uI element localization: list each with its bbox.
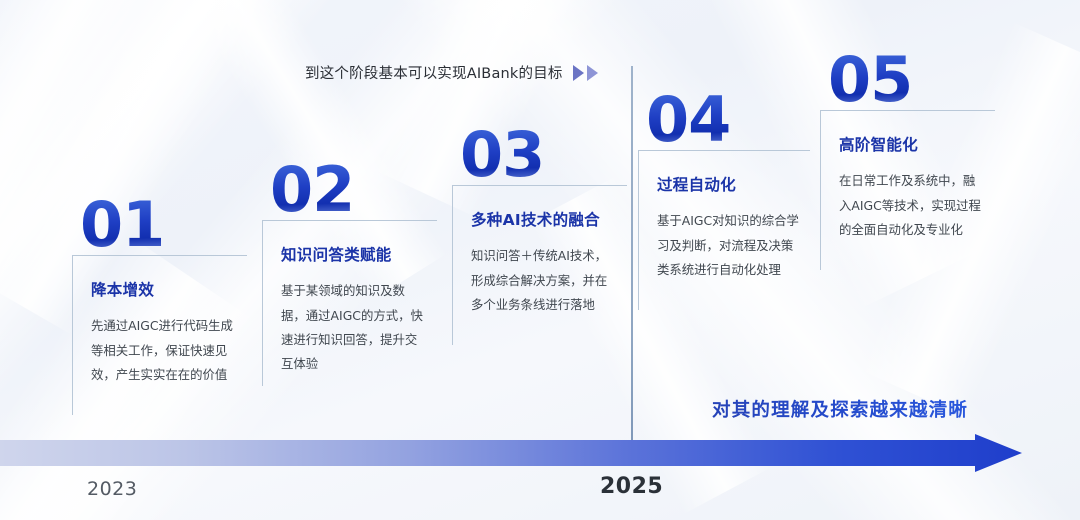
chevron-right-icon <box>573 65 584 81</box>
top-annotation-text: 到这个阶段基本可以实现AIBank的目标 <box>305 62 563 83</box>
right-arrow-icon <box>0 434 1080 482</box>
step-card-body: 知识问答类赋能 基于某领域的知识及数据，通过AIGC的方式，快速进行知识回答，提… <box>262 220 437 386</box>
step-number: 04 <box>646 93 810 146</box>
step-title: 过程自动化 <box>657 173 800 195</box>
step-card-02[interactable]: 02 知识问答类赋能 基于某领域的知识及数据，通过AIGC的方式，快速进行知识回… <box>262 163 437 386</box>
step-title: 知识问答类赋能 <box>281 243 427 265</box>
step-description: 知识问答＋传统AI技术，形成综合解决方案，并在多个业务条线进行落地 <box>471 244 617 317</box>
step-card-03[interactable]: 03 多种AI技术的融合 知识问答＋传统AI技术，形成综合解决方案，并在多个业务… <box>452 128 627 345</box>
step-title: 多种AI技术的融合 <box>471 208 617 230</box>
step-card-01[interactable]: 01 降本增效 先通过AIGC进行代码生成等相关工作，保证快速见效，产生实实在在… <box>72 198 247 415</box>
slide-canvas: 到这个阶段基本可以实现AIBank的目标 01 降本增效 先通过AIGC进行代码… <box>0 0 1080 520</box>
step-description: 先通过AIGC进行代码生成等相关工作，保证快速见效，产生实实在在的价值 <box>91 314 237 387</box>
year-divider-line <box>631 66 633 450</box>
step-number: 02 <box>270 163 437 216</box>
chevron-group <box>573 65 598 81</box>
year-label-mark: 2025 <box>600 474 663 499</box>
year-label-start: 2023 <box>87 478 137 500</box>
step-card-body: 高阶智能化 在日常工作及系统中，融入AIGC等技术，实现过程的全面自动化及专业化 <box>820 110 995 270</box>
step-description: 基于某领域的知识及数据，通过AIGC的方式，快速进行知识回答，提升交互体验 <box>281 279 427 376</box>
step-description: 在日常工作及系统中，融入AIGC等技术，实现过程的全面自动化及专业化 <box>839 169 985 242</box>
step-card-05[interactable]: 05 高阶智能化 在日常工作及系统中，融入AIGC等技术，实现过程的全面自动化及… <box>820 53 995 270</box>
step-number: 03 <box>460 128 627 181</box>
tagline-text: 对其的理解及探索越来越清晰 <box>712 396 968 422</box>
step-number: 01 <box>80 198 247 251</box>
step-number: 05 <box>828 53 995 106</box>
step-card-body: 多种AI技术的融合 知识问答＋传统AI技术，形成综合解决方案，并在多个业务条线进… <box>452 185 627 345</box>
top-annotation: 到这个阶段基本可以实现AIBank的目标 <box>305 62 598 83</box>
step-description: 基于AIGC对知识的综合学习及判断，对流程及决策类系统进行自动化处理 <box>657 209 800 282</box>
step-card-body: 过程自动化 基于AIGC对知识的综合学习及判断，对流程及决策类系统进行自动化处理 <box>638 150 810 310</box>
step-card-body: 降本增效 先通过AIGC进行代码生成等相关工作，保证快速见效，产生实实在在的价值 <box>72 255 247 415</box>
step-title: 降本增效 <box>91 278 237 300</box>
step-title: 高阶智能化 <box>839 133 985 155</box>
step-card-04[interactable]: 04 过程自动化 基于AIGC对知识的综合学习及判断，对流程及决策类系统进行自动… <box>638 93 810 310</box>
chevron-right-icon <box>587 65 598 81</box>
